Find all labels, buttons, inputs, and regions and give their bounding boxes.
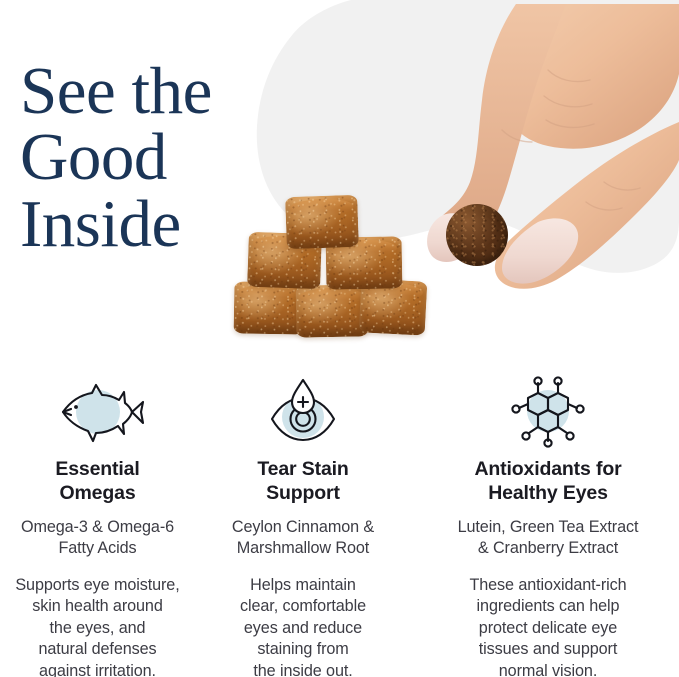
headline-line-2: Good xyxy=(20,124,310,190)
page-title: See the Good Inside xyxy=(20,58,310,257)
feature-description: Helps maintain clear, comfortable eyes a… xyxy=(236,575,370,677)
chew-piece xyxy=(296,284,369,337)
feature-essential-omegas: Essential Omegas Omega-3 & Omega-6 Fatty… xyxy=(0,376,195,677)
feature-antioxidants: Antioxidants for Healthy Eyes Lutein, Gr… xyxy=(423,376,673,677)
hand-image xyxy=(398,4,679,304)
feature-ingredients: Lutein, Green Tea Extract & Cranberry Ex… xyxy=(452,517,645,559)
eye-drop-icon xyxy=(257,376,349,448)
background-blob xyxy=(255,0,679,352)
feature-description: These antioxidant-rich ingredients can h… xyxy=(463,575,632,677)
feature-description: Supports eye moisture, skin health aroun… xyxy=(13,575,181,677)
infographic-page: See the Good Inside xyxy=(0,0,679,677)
fish-icon xyxy=(52,376,144,448)
headline-line-3: Inside xyxy=(20,191,310,257)
feature-title: Tear Stain Support xyxy=(257,458,348,506)
feature-ingredients: Omega-3 & Omega-6 Fatty Acids xyxy=(19,517,176,559)
pinched-chew-image xyxy=(446,204,508,266)
feature-ingredients: Ceylon Cinnamon & Marshmallow Root xyxy=(228,517,378,559)
feature-title: Antioxidants for Healthy Eyes xyxy=(474,458,621,506)
feature-title: Essential Omegas xyxy=(55,458,139,506)
feature-columns: Essential Omegas Omega-3 & Omega-6 Fatty… xyxy=(0,376,679,677)
chew-piece xyxy=(326,236,403,289)
molecule-icon xyxy=(502,376,594,448)
chew-piece xyxy=(234,281,305,334)
chew-piece xyxy=(359,278,428,335)
feature-tear-stain-support: Tear Stain Support Ceylon Cinnamon & Mar… xyxy=(205,376,401,677)
headline-line-1: See the xyxy=(20,58,310,124)
